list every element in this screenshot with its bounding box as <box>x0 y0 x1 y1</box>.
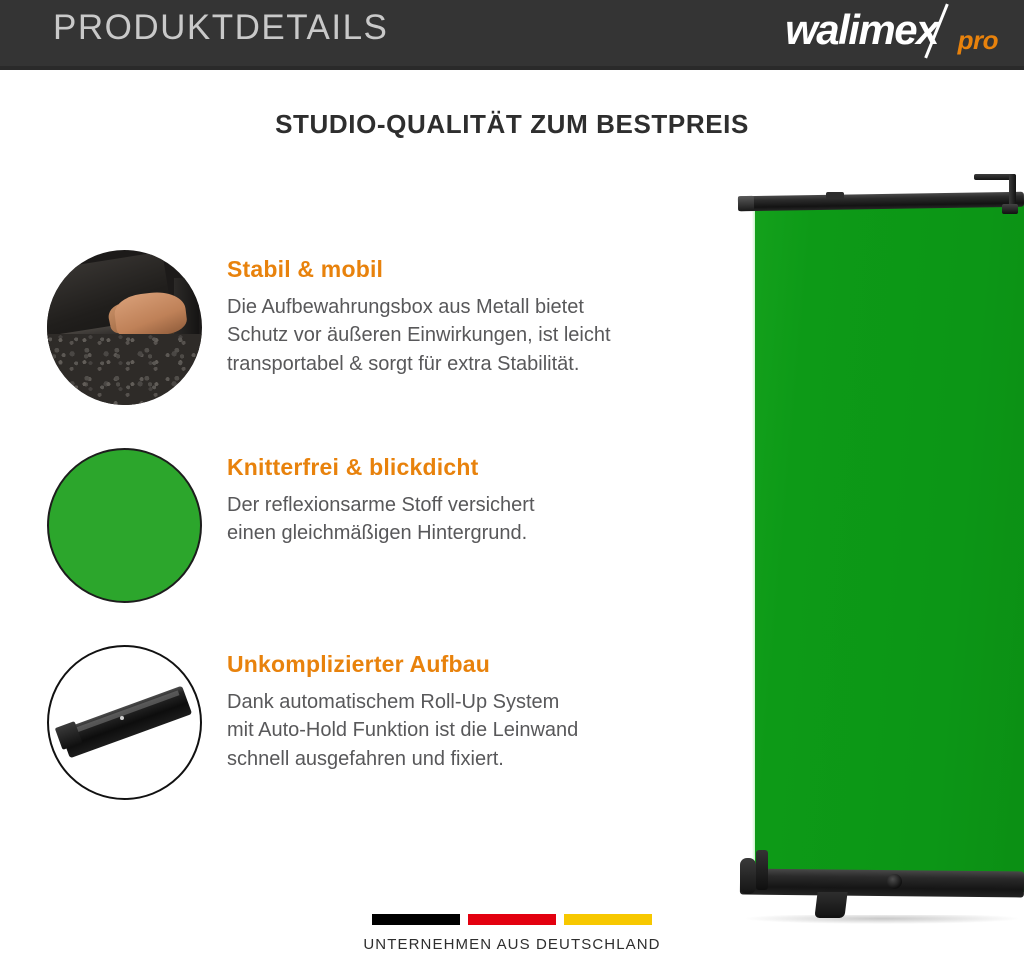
feature-heading: Stabil & mobil <box>227 256 757 283</box>
feature-body: Der reflexionsarme Stoff versichert eine… <box>227 491 757 548</box>
header-underline <box>0 66 1024 70</box>
gravel-ground-shape <box>47 334 202 405</box>
green-fabric-swatch-icon <box>47 448 202 603</box>
feature-text-group: Stabil & mobil Die Aufbewahrungsbox aus … <box>227 256 757 378</box>
logo-pro-text: pro <box>958 25 998 56</box>
feature-block-knitterfrei-blickdicht: Knitterfrei & blickdicht Der reflexionsa… <box>0 448 760 608</box>
product-image-green-screen <box>730 170 1024 910</box>
base-knob <box>887 874 902 889</box>
rollup-cassette-photo-icon <box>47 645 202 800</box>
flag-bar-black <box>372 914 460 925</box>
logo-brand-text: walimex <box>785 6 938 54</box>
page-title: PRODUKTDETAILS <box>53 8 388 48</box>
page-header: PRODUKTDETAILS walimex pro <box>0 0 1024 70</box>
page-footer: UNTERNEHMEN AUS DEUTSCHLAND <box>0 905 1024 955</box>
feature-block-unkomplizierter-aufbau: Unkomplizierter Aufbau Dank automatische… <box>0 645 760 805</box>
feature-heading: Unkomplizierter Aufbau <box>227 651 757 678</box>
base-cassette-bar <box>740 869 1024 898</box>
feature-body: Die Aufbewahrungsbox aus Metall bietet S… <box>227 293 757 378</box>
feature-heading: Knitterfrei & blickdicht <box>227 454 757 481</box>
base-left-clip <box>756 850 768 890</box>
green-screen-fabric <box>755 204 1024 892</box>
feature-block-stabil-mobil: Stabil & mobil Die Aufbewahrungsbox aus … <box>0 250 760 410</box>
top-crossbar-clip <box>826 192 844 199</box>
base-left-end-cap <box>740 858 756 894</box>
flag-bar-red <box>468 914 556 925</box>
flag-bar-gold <box>564 914 652 925</box>
top-crossbar-end-cap <box>738 196 754 211</box>
footer-caption: UNTERNEHMEN AUS DEUTSCHLAND <box>0 936 1024 953</box>
german-flag-bars <box>0 914 1024 925</box>
feature-text-group: Knitterfrei & blickdicht Der reflexionsa… <box>227 454 757 548</box>
storage-box-photo-icon <box>47 250 202 405</box>
headline: STUDIO-QUALITÄT ZUM BESTPREIS <box>0 109 1024 140</box>
product-details-page: PRODUKTDETAILS walimex pro STUDIO-QUALIT… <box>0 0 1024 955</box>
walimex-pro-logo: walimex pro <box>750 6 1000 58</box>
support-arm-bracket <box>1002 204 1018 214</box>
feature-body: Dank automatischem Roll-Up System mit Au… <box>227 688 757 773</box>
feature-text-group: Unkomplizierter Aufbau Dank automatische… <box>227 651 757 773</box>
